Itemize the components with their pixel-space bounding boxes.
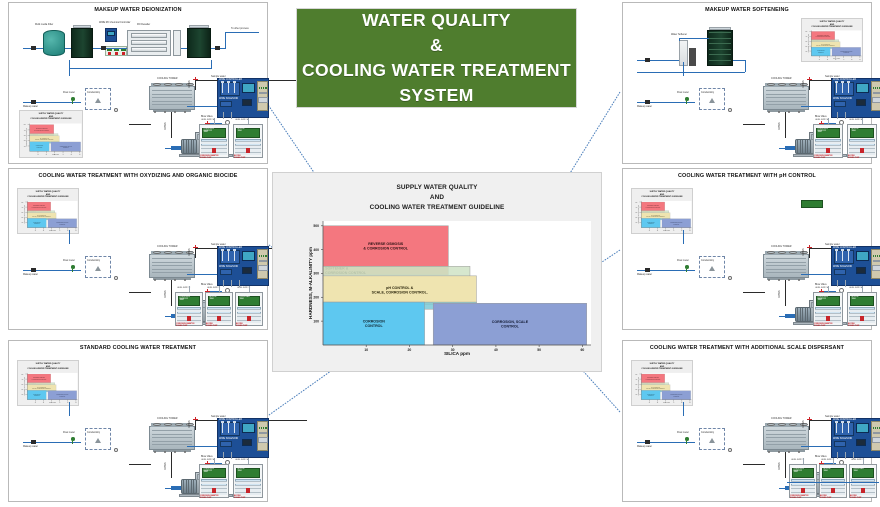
chemical-tank-label: CORROSION INHIBITOR TANK	[204, 469, 214, 474]
manifold-sensor-tube	[842, 83, 843, 93]
chemical-dosing-pump[interactable]	[246, 148, 249, 153]
motor-fin	[191, 140, 192, 153]
x-tick-label: 60	[859, 58, 861, 60]
panel-switch[interactable]	[265, 260, 267, 262]
dosing-pump-label: BIOCIDE DOSING PUMP	[236, 324, 247, 327]
motor-fin	[797, 308, 798, 321]
flow-meter-stem	[686, 441, 687, 444]
makeup-water-label: Makeup water	[23, 446, 38, 448]
dosing-pump-label: BIOCIDE DOSING PUMP	[206, 324, 217, 327]
x-tick-label: 40	[843, 57, 845, 60]
y-tick-label: 400	[21, 206, 23, 209]
dosing-line-riser	[249, 286, 250, 292]
dosing-pump-label: CORROSION INHIBITOR DOSING PUMP	[176, 324, 194, 327]
makeup-water-label: Makeup water	[637, 274, 652, 276]
ro-dosing-pump	[122, 52, 125, 55]
treated-water-tank-top	[189, 25, 209, 28]
chemical-dosing-pump[interactable]	[246, 488, 249, 493]
cooling-tower-louver	[766, 272, 806, 273]
dosing-outlet-stub	[223, 112, 224, 119]
chart-region-label: CONTROL	[34, 395, 40, 397]
y-tick-label: 500	[313, 224, 319, 228]
chart-svg: REVERSE OSMOSIS& CORROSION CONTROLSOFTEN…	[273, 173, 603, 373]
controller-display[interactable]	[856, 83, 869, 93]
sample-manifold	[834, 250, 854, 264]
cooling-tower-label: COOLING TOWER	[157, 418, 178, 420]
controller-aux-display	[856, 99, 866, 106]
x-tick-label: 60	[75, 402, 77, 404]
panel-water-return	[801, 274, 831, 275]
panel-additional-scale-dispersant[interactable]: COOLING WATER TREATMENT WITH ADDITIONAL …	[622, 340, 872, 502]
riser-down-label-2: DOWN	[779, 122, 781, 130]
x-tick-label: 60	[75, 230, 77, 232]
mini-chart-svg: REVERSE OSMOSIS& CORROSION CONTROLSOFTEN…	[18, 361, 80, 407]
chart-region-label: CONTROL	[501, 325, 520, 329]
tower-riser-down	[195, 80, 196, 90]
dosing-outlet-stub	[837, 452, 838, 459]
level-switch-label: LEVEL SWITCH	[849, 288, 862, 290]
mini-guideline-chart: SUPPLY WATER QUALITY AND COOLING WATER T…	[801, 18, 863, 62]
flow-meter-label: Flow meter	[63, 92, 75, 94]
riser-down-label-1: DOWN	[803, 420, 805, 428]
conductivity-label: Conductivity	[701, 92, 714, 94]
chemical-dosing-pump[interactable]	[801, 488, 804, 493]
cooling-tower-louver	[152, 94, 192, 95]
manifold-sensor-tube	[842, 423, 843, 433]
chemical-dosing-pump[interactable]	[187, 316, 190, 321]
riser-down-label-2: DOWN	[165, 122, 167, 130]
panel-title: COOLING WATER TREATMENT WITH ADDITIONAL …	[623, 341, 871, 354]
dosing-pump-label: CORROSION INHIBITOR DOSING PUMP	[200, 496, 218, 499]
panel-ph-control[interactable]: COOLING WATER TREATMENT WITH pH CONTROL …	[622, 168, 872, 330]
dosing-outlet-stub	[239, 280, 240, 287]
dosing-pump-label: CORROSION INHIBITOR DOSING PUMP	[200, 156, 218, 159]
tower-return-down	[171, 452, 172, 478]
y-tick-label: 100	[24, 145, 26, 147]
ro-to-tank	[181, 48, 187, 49]
panel-indicator-led	[265, 427, 267, 429]
cooling-tower-louver	[766, 262, 806, 263]
panel-standard-cooling-water-treatment[interactable]: STANDARD COOLING WATER TREATMENT SUPPLY …	[8, 340, 268, 502]
makeup-water-label: Makeup water	[637, 446, 652, 448]
x-tick-label: 20	[408, 348, 412, 352]
cooling-tower-louver	[766, 97, 806, 98]
dosing-line-riser	[803, 458, 804, 464]
conductivity-label: Conductivity	[87, 432, 100, 434]
x-tick-label: 20	[43, 402, 45, 404]
tank-ladder-rung	[709, 43, 731, 44]
x-tick-label: 10	[35, 230, 37, 232]
motor-fin	[188, 140, 189, 153]
panel-terminal-block	[872, 97, 880, 103]
ro-desalter-label: RO Desalter	[137, 24, 150, 26]
tank-ladder-rung	[709, 38, 731, 39]
sample-manifold	[220, 422, 240, 436]
manifold-sensor-tube	[228, 83, 229, 93]
panel-diagram: SUPPLY WATER QUALITY AND COOLING WATER T…	[623, 182, 871, 329]
panel-terminal-block	[872, 437, 880, 443]
makeup-water-label: Makeup water	[23, 274, 38, 276]
y-tick-label: 500	[805, 31, 807, 33]
makeup-water-valve	[31, 268, 36, 272]
chemical-dosing-pump[interactable]	[212, 488, 215, 493]
makeup-water-label: Makeup water	[637, 106, 652, 108]
panel-door[interactable]	[871, 249, 880, 279]
cooling-tower-louver	[152, 272, 192, 273]
dosing-outlet-stub	[231, 112, 232, 119]
blowdown-line	[129, 292, 151, 293]
poster-title-text: WATER QUALITY & COOLING WATER TREATMENT …	[302, 8, 571, 107]
sample-inlet	[217, 80, 218, 81]
tower-return-down	[785, 280, 786, 306]
riser-down-label-2: DOWN	[779, 462, 781, 470]
x-tick-label: 20	[43, 230, 45, 232]
panel-indicator-led	[265, 87, 267, 89]
conductivity-label: Conductivity	[701, 432, 714, 434]
controller-display[interactable]	[856, 423, 869, 433]
chemical-dosing-pump[interactable]	[826, 148, 829, 153]
pump-suction-pipe	[165, 148, 173, 149]
chart-plot-area: REVERSE OSMOSIS& CORROSION CONTROLSOFTEN…	[273, 173, 601, 371]
dosing-pump-label: BIOCIDE DOSING PUMP	[234, 156, 245, 159]
cooling-tower-louver	[766, 441, 806, 442]
dosing-line-riser	[862, 286, 863, 292]
solenoid-block	[834, 441, 846, 447]
tank-ladder-rung	[709, 60, 731, 61]
chemical-dosing-pump[interactable]	[247, 316, 250, 321]
tank-to-ro	[93, 48, 127, 49]
chemical-tank-label: CORROSION INHIBITOR TANK	[818, 129, 828, 134]
flow-meter-stem	[72, 101, 73, 104]
x-tick-label: 10	[819, 58, 821, 60]
flow-meter-stem	[686, 269, 687, 272]
cooling-tower-louver	[152, 258, 192, 259]
level-switch-label: LEVEL SWITCH	[201, 460, 214, 462]
y-tick-label: 400	[635, 206, 637, 209]
panel-label-controller: WWE CONTROLLER	[219, 247, 242, 249]
conductivity-probe-icon	[95, 98, 101, 103]
mini-chart-svg: REVERSE OSMOSIS& CORROSION CONTROLSOFTEN…	[632, 361, 694, 407]
x-tick-label: 50	[851, 58, 853, 60]
ro-control-cabinet	[173, 30, 181, 56]
riser-down-label-1: DOWN	[189, 80, 191, 88]
panel-switch[interactable]	[265, 432, 267, 434]
tank-ladder-rung	[709, 49, 731, 50]
x-axis-label: SILICA ppm	[444, 351, 470, 356]
y-tick-label: 200	[21, 389, 23, 391]
cooling-tower-label: COOLING TOWER	[157, 246, 178, 248]
makeup-water-valve	[645, 440, 650, 444]
panel-water-return	[187, 274, 217, 275]
flow-meter-stem	[686, 101, 687, 104]
motor-fin	[193, 480, 194, 493]
panel-title: MAKEUP WATER SOFTENEING	[623, 3, 871, 16]
cooling-tower-louver	[766, 434, 806, 435]
motor-fin	[800, 140, 801, 153]
dosing-pump-label: BIOCIDE DOSING PUMP	[820, 496, 831, 499]
manifold-sensor-tube	[836, 83, 837, 93]
chart-region-label: & CORROSION CONTROL	[646, 379, 661, 381]
controller-display[interactable]	[242, 83, 255, 93]
dosing-line-riser	[219, 286, 220, 292]
solenoid-block	[220, 101, 232, 107]
to-other-process-riser	[225, 32, 226, 49]
motor-fin	[183, 480, 184, 493]
motor-fin	[191, 480, 192, 493]
cooling-tower-louver	[152, 430, 192, 431]
cooling-tower-label: COOLING TOWER	[157, 78, 178, 80]
makeup-water-label: Makeup water	[23, 106, 38, 108]
inline-fitting-icon	[728, 108, 732, 112]
makeup-header	[69, 68, 211, 69]
conductivity-label: Conductivity	[87, 260, 100, 262]
dosing-line-riser	[214, 118, 215, 124]
chemical-tank-label: CORROSION INHIBITOR TANK	[180, 297, 190, 302]
x-tick-label: 40	[673, 401, 675, 404]
panel-water-return	[801, 446, 831, 447]
controller-display[interactable]	[856, 251, 869, 261]
chemical-dosing-pump[interactable]	[860, 148, 863, 153]
panel-water-return	[187, 106, 217, 107]
cooling-tower-louver	[152, 90, 192, 91]
chemical-dosing-pump[interactable]	[212, 148, 215, 153]
motor-fin	[807, 308, 808, 321]
ro-dosing-pump	[108, 52, 111, 55]
dosing-outlet-stub	[231, 452, 232, 459]
chart-region-label: SCALE, CORROSION CONTROL.	[372, 291, 428, 295]
makeup-water-valve	[31, 440, 36, 444]
mini-guideline-chart: SUPPLY WATER QUALITY AND COOLING WATER T…	[17, 188, 79, 234]
tank-outlet-valve	[215, 46, 220, 50]
controller-display[interactable]	[242, 423, 255, 433]
motor-fin	[186, 140, 187, 153]
pump-suction-pipe	[165, 488, 173, 489]
level-switch-label: LEVEL SWITCH	[849, 120, 862, 122]
chemical-dosing-pump[interactable]	[831, 488, 834, 493]
cooling-tower-louver	[766, 430, 806, 431]
controller-display[interactable]	[242, 251, 255, 261]
manifold-sensor-tube	[234, 83, 235, 93]
dosing-pump-label: BIOCIDE DOSING PUMP	[850, 496, 861, 499]
panel-label-controller: WWE CONTROLLER	[833, 419, 856, 421]
cooling-tower-louver	[152, 265, 192, 266]
mini-guideline-chart: SUPPLY WATER QUALITY AND COOLING WATER T…	[631, 188, 693, 234]
chart-region-label: CONTROL	[648, 395, 654, 397]
riser-down-label-2: DOWN	[779, 290, 781, 298]
sample-inlet	[831, 420, 832, 421]
x-tick-label: 10	[35, 402, 37, 404]
y-tick-label: 300	[805, 41, 807, 43]
motor-fin	[183, 140, 184, 153]
level-switch-label: LEVEL SWITCH	[815, 288, 828, 290]
sample-inlet	[831, 248, 832, 249]
dosing-pump-label: BIOCIDE DOSING PUMP	[848, 156, 859, 159]
mini-guideline-chart: SUPPLY WATER QUALITY AND COOLING WATER T…	[19, 110, 83, 158]
riser-down-label-1: DOWN	[803, 248, 805, 256]
panel-makeup-water-softening[interactable]: MAKEUP WATER SOFTENEING Water SoftenerCO…	[622, 2, 872, 164]
water-softener-label: Water Softener	[671, 34, 687, 36]
ro-dosing-pump	[115, 52, 118, 55]
tank-ladder-rung	[709, 54, 731, 55]
cooling-tower-louver	[766, 258, 806, 259]
tank-outlet-drop	[745, 60, 746, 72]
y-tick-label: 300	[21, 384, 23, 386]
makeup-header-drop	[683, 230, 684, 244]
blowdown-line	[129, 124, 151, 125]
panel-switch[interactable]	[265, 92, 267, 94]
panel-door[interactable]	[257, 81, 268, 111]
guideline-chart-card: SUPPLY WATER QUALITY AND COOLING WATER T…	[272, 172, 602, 372]
chart-region-label: CONTROL	[59, 395, 65, 397]
treated-water-tank	[187, 28, 211, 58]
ro-membrane-vessel	[131, 33, 167, 38]
x-axis-label: SILICA ppm	[663, 229, 670, 232]
cooling-tower-louver	[766, 437, 806, 438]
x-tick-label: 60	[580, 348, 584, 352]
tank-ladder-rung	[709, 32, 731, 33]
multi-media-filter-label: Multi media Filter	[35, 24, 53, 26]
x-axis-label: SILICA ppm	[49, 401, 56, 404]
makeup-header-drop	[69, 230, 70, 244]
y-tick-label: 200	[635, 389, 637, 391]
y-tick-label: 100	[313, 319, 319, 323]
tower-return-down	[785, 112, 786, 138]
chart-region-label: REVERSE OSMOSIS	[368, 242, 404, 246]
pump-suction-pipe	[779, 316, 787, 317]
dosing-line-riser	[214, 458, 215, 464]
solenoid-block	[220, 269, 232, 275]
dosing-pump-label: CORROSION INHIBITOR DOSING PUMP	[790, 496, 808, 499]
softener-to-tank	[679, 38, 709, 39]
cooling-tower-louver	[766, 94, 806, 95]
ro-controller-display[interactable]	[107, 31, 115, 36]
x-tick-label: 10	[649, 402, 651, 404]
x-tick-label: 20	[46, 154, 48, 156]
controller-aux-display	[242, 99, 252, 106]
chemical-dosing-pump[interactable]	[860, 316, 863, 321]
y-tick-label: 400	[21, 378, 23, 381]
dosing-outlet-stub	[231, 280, 232, 287]
chart-region-label: CONTROL	[59, 223, 65, 225]
x-tick-label: 40	[62, 153, 64, 156]
panel-diagram: SUPPLY WATER QUALITY AND COOLING WATER T…	[623, 354, 871, 501]
panel-door[interactable]	[871, 421, 880, 451]
chemical-dosing-pump[interactable]	[217, 316, 220, 321]
pretreat-tank-1	[71, 28, 93, 58]
y-tick-label: 200	[313, 296, 319, 300]
conductivity-probe-icon	[709, 266, 715, 271]
chart-region-label: CONTROL	[843, 52, 849, 54]
manifold-sensor-tube	[228, 251, 229, 261]
dosing-pump-label: BIOCIDE DOSING PUMP	[234, 496, 245, 499]
dosing-outlet-stub	[837, 280, 838, 287]
panel-door[interactable]	[257, 421, 268, 451]
manifold-sensor-tube	[228, 423, 229, 433]
panel-terminal-block	[258, 437, 268, 443]
x-tick-label: 60	[689, 402, 691, 404]
inline-fitting-icon	[114, 276, 118, 280]
chart-region-label: & CORROSION CONTROL	[34, 129, 49, 131]
flow-meter-label: Flow meter	[677, 432, 689, 434]
sample-manifold	[220, 250, 240, 264]
panel-title: COOLING WATER TREATMENT WITH OXYDIZING A…	[9, 169, 267, 182]
panel-makeup-water-deionization[interactable]: MAKEUP WATER DEIONIZATION Multi media Fi…	[8, 2, 268, 164]
dosing-pump-label: CORROSION INHIBITOR DOSING PUMP	[814, 156, 832, 159]
softener-inlet	[637, 60, 679, 61]
y-tick-label: 200	[21, 217, 23, 219]
chemical-tank-label: BIOCIDE TANK	[852, 129, 859, 132]
dispersant-shared-header	[787, 482, 879, 483]
panel-label-controller: WWE CONTROLLER	[219, 419, 242, 421]
panel-door[interactable]	[871, 81, 880, 111]
cooling-tower-louver	[766, 444, 806, 445]
panel-door[interactable]	[257, 249, 268, 279]
sample-inlet	[217, 248, 218, 249]
inline-fitting-icon	[728, 276, 732, 280]
chart-region-label: CORROSION	[363, 320, 386, 324]
makeup-header	[637, 72, 745, 73]
panel-oxydizing-organic-biocide[interactable]: COOLING WATER TREATMENT WITH OXYDIZING A…	[8, 168, 268, 330]
tower-return-down	[171, 280, 172, 306]
pretreat-tank-1-top	[73, 25, 91, 28]
mini-guideline-chart: SUPPLY WATER QUALITY AND COOLING WATER T…	[631, 360, 693, 406]
y-tick-label: 100	[805, 50, 807, 52]
dosing-line-riser	[248, 118, 249, 124]
panel-indicator-led	[265, 255, 267, 257]
chemical-dosing-pump[interactable]	[826, 316, 829, 321]
motor-fin	[797, 140, 798, 153]
panel-water-return	[187, 446, 217, 447]
makeup-header-drop	[683, 402, 684, 416]
to-other-process-label: To other process	[231, 28, 249, 30]
y-tick-label: 500	[635, 201, 637, 203]
dosing-outlet-stub	[223, 452, 224, 459]
mini-chart-svg: REVERSE OSMOSIS& CORROSION CONTROLSOFTEN…	[632, 189, 694, 235]
cooling-tower-label: COOLING TOWER	[771, 246, 792, 248]
dosing-outlet-stub	[223, 280, 224, 287]
chemical-dosing-pump[interactable]	[861, 488, 864, 493]
x-tick-label: 20	[657, 402, 659, 404]
dosing-outlet-stub	[845, 280, 846, 287]
flow-meter-label: Flow meter	[677, 260, 689, 262]
chart-region-label: CONTROL	[63, 147, 69, 149]
raw-water-valve	[31, 46, 36, 50]
motor-fin	[802, 140, 803, 153]
tower-riser-down	[809, 248, 810, 258]
motor-fin	[188, 480, 189, 493]
brine-tank	[689, 48, 696, 66]
level-switch-label: LEVEL SWITCH	[815, 120, 828, 122]
y-tick-label: 100	[21, 222, 23, 224]
riser-down-label-1: DOWN	[803, 80, 805, 88]
motor-fin	[186, 480, 187, 493]
cooling-tower-louver	[152, 97, 192, 98]
chemical-tank-label: CORROSION INHIBITOR TANK	[818, 297, 828, 302]
manifold-sensor-tube	[222, 423, 223, 433]
solenoid-block	[220, 441, 232, 447]
controller-aux-display	[242, 267, 252, 274]
mini-chart-svg: REVERSE OSMOSIS& CORROSION CONTROLSOFTEN…	[20, 111, 84, 159]
mini-guideline-chart: SUPPLY WATER QUALITY AND COOLING WATER T…	[17, 360, 79, 406]
y-tick-label: 400	[24, 128, 26, 131]
panel-title: COOLING WATER TREATMENT WITH pH CONTROL	[623, 169, 871, 182]
dosing-line-riser	[248, 458, 249, 464]
y-tick-label: 300	[24, 135, 26, 137]
flow-meter-label: Flow meter	[63, 432, 75, 434]
inline-fitting-icon	[114, 448, 118, 452]
blowdown-line	[743, 464, 765, 465]
riser-down-label-2: DOWN	[165, 290, 167, 298]
